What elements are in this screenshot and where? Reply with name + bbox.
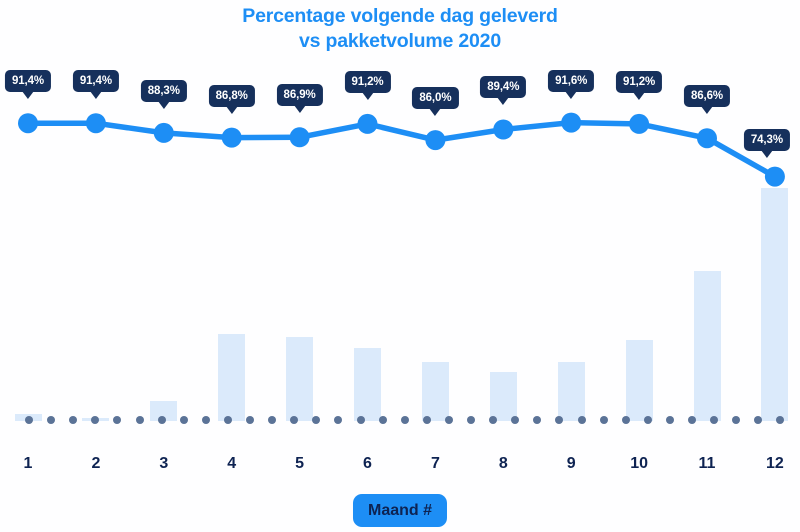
x-axis-label: 11 [699,455,716,473]
x-axis-label: 3 [159,455,168,473]
line-path [28,123,775,177]
line-marker [629,114,649,134]
line-marker [561,113,581,133]
line-marker [493,120,513,140]
line-marker [18,113,38,133]
line-series-percentage [0,0,800,440]
x-axis-labels: 123456789101112 [0,455,800,481]
line-marker [765,167,785,187]
data-label-badge: 91,4% [5,70,51,92]
x-axis-label: 6 [363,455,372,473]
plot-area: 91,4%91,4%88,3%86,8%86,9%91,2%86,0%89,4%… [0,0,800,440]
data-label-badge: 88,3% [141,80,187,102]
x-axis-label: 9 [567,455,576,473]
x-axis-label: 7 [431,455,440,473]
x-axis-label: 10 [630,455,648,473]
line-marker [86,113,106,133]
data-label-badge: 86,9% [277,84,323,106]
data-label-badge: 91,4% [73,70,119,92]
line-marker [222,128,242,148]
data-label-badge: 89,4% [480,76,526,98]
data-label-badge: 74,3% [744,129,790,151]
data-label-badge: 86,0% [412,87,458,109]
line-marker [697,128,717,148]
data-label-badge: 91,2% [616,71,662,93]
x-axis-label: 5 [295,455,304,473]
x-axis-title-badge: Maand # [353,494,447,527]
x-axis-label: 8 [499,455,508,473]
x-axis-label: 12 [766,455,784,473]
line-marker [425,130,445,150]
line-marker [290,127,310,147]
x-axis-label: 1 [24,455,33,473]
line-marker [154,123,174,143]
data-label-badge: 91,2% [344,71,390,93]
data-label-badge: 86,8% [209,85,255,107]
data-label-badge: 91,6% [548,70,594,92]
x-axis-label: 2 [91,455,100,473]
line-marker [358,114,378,134]
x-axis-label: 4 [227,455,236,473]
chart-container: Percentage volgende dag geleverd vs pakk… [0,0,800,532]
data-label-badge: 86,6% [684,85,730,107]
